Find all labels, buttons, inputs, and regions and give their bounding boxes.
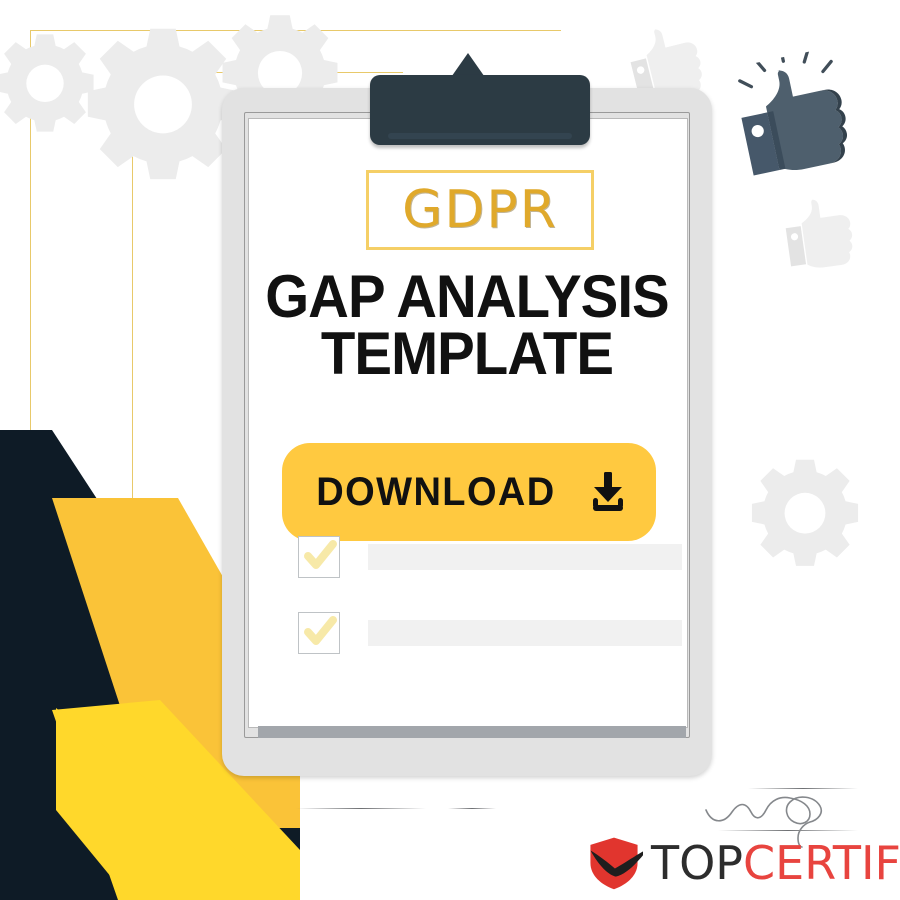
page-title-line2: TEMPLATE — [261, 325, 673, 382]
gdpr-badge-label: GDPR — [402, 184, 558, 236]
download-button-label: DOWNLOAD — [316, 470, 555, 515]
shield-check-icon — [585, 834, 643, 892]
brand-logo[interactable]: TOPCERTIFIER — [585, 833, 900, 893]
gear-icon — [745, 455, 865, 575]
download-arrow-icon — [588, 470, 628, 514]
placeholder-text-bar — [368, 544, 682, 570]
gear-icon — [0, 30, 100, 140]
checkbox-checked[interactable] — [298, 536, 340, 578]
placeholder-text-bar — [368, 620, 682, 646]
checkbox-checked[interactable] — [298, 612, 340, 654]
list-item — [298, 612, 682, 654]
brand-wordmark: TOPCERTIFIER — [651, 840, 900, 886]
poster-canvas: GDPR GAP ANALYSIS TEMPLATE DOWNLOAD — [0, 0, 900, 900]
page-title: GAP ANALYSIS TEMPLATE — [261, 268, 673, 382]
thumbs-up-icon — [774, 184, 873, 283]
form-rule — [448, 808, 496, 809]
list-item — [298, 536, 682, 578]
thumbs-up-icon — [723, 43, 877, 197]
download-button[interactable]: DOWNLOAD — [282, 443, 656, 541]
brand-wordmark-certifier: CERTIFIER — [743, 836, 900, 890]
gdpr-badge: GDPR — [366, 170, 594, 250]
form-rule — [296, 808, 426, 809]
brand-wordmark-top: TOP — [651, 836, 743, 890]
paper-shadow — [258, 726, 686, 738]
document-content: GDPR GAP ANALYSIS TEMPLATE DOWNLOAD — [248, 118, 686, 726]
